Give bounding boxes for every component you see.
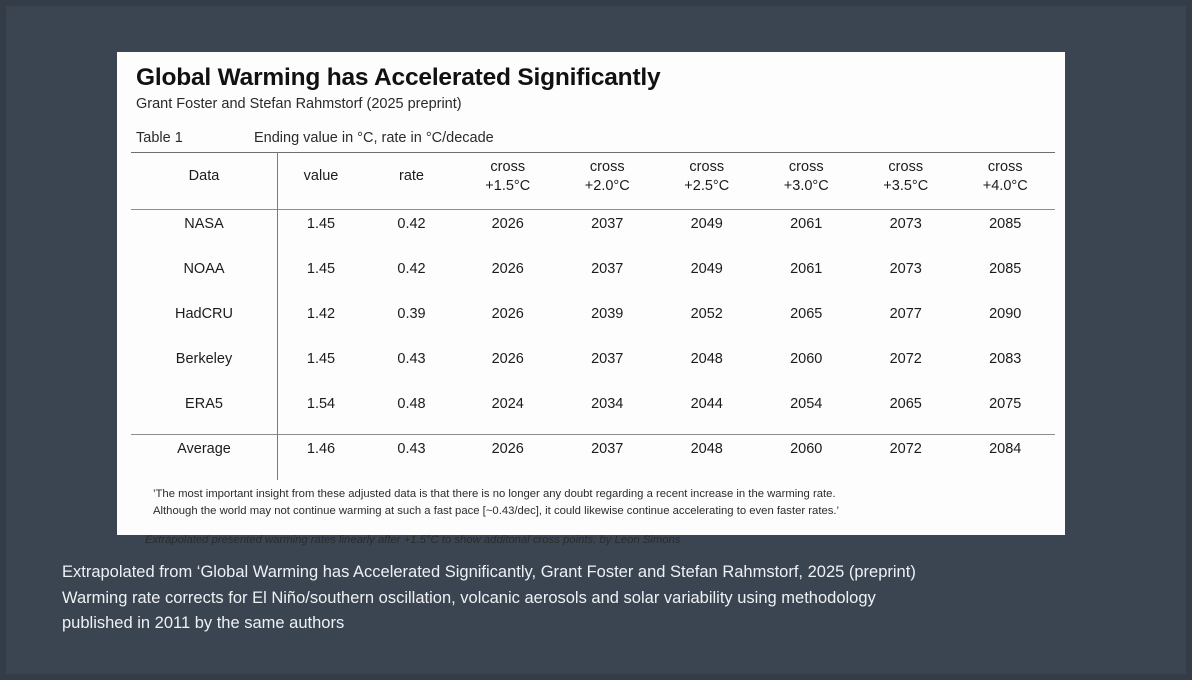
results-table: Data value rate cross +1.5°C cross +2.0°: [131, 152, 1055, 472]
cell-cross-3p5: 2065: [856, 382, 956, 427]
quote-line: Although the world may not continue warm…: [153, 503, 1048, 521]
table-row: Berkeley 1.45 0.43 2026 2037 2048 2060 2…: [131, 337, 1055, 382]
caption-line: Extrapolated from ‘Global Warming has Ac…: [62, 560, 1142, 586]
cell-cross-4p0: 2075: [956, 382, 1056, 427]
cell-cross-2p5: 2048: [657, 337, 757, 382]
cell-cross-2p0: 2037: [558, 247, 658, 292]
column-header-cross-2p0: cross +2.0°C: [558, 152, 658, 202]
table-units-label: Ending value in °C, rate in °C/decade: [254, 130, 494, 146]
cell-rate: 0.43: [365, 337, 458, 382]
cell-cross-4p0: 2085: [956, 247, 1056, 292]
cell-cross-3p5: 2073: [856, 247, 956, 292]
column-header-cross-3p0: cross +3.0°C: [757, 152, 857, 202]
cell-cross-1p5: 2026: [458, 247, 558, 292]
cell-dataset: NOAA: [131, 247, 277, 292]
table-number-label: Table 1: [136, 130, 254, 146]
cell-cross-1p5: 2024: [458, 382, 558, 427]
cell-cross-3p0: 2054: [757, 382, 857, 427]
cell-cross-2p0: 2034: [558, 382, 658, 427]
cell-dataset: HadCRU: [131, 292, 277, 337]
table-rule-body-end: [131, 434, 1055, 435]
cell-cross-1p5: 2026: [458, 292, 558, 337]
cell-rate: 0.39: [365, 292, 458, 337]
table-header-row: Data value rate cross +1.5°C cross +2.0°: [131, 152, 1055, 202]
page-title: Global Warming has Accelerated Significa…: [136, 64, 1048, 92]
table-row: NOAA 1.45 0.42 2026 2037 2049 2061 2073 …: [131, 247, 1055, 292]
table-header: Data value rate cross +1.5°C cross +2.0°: [131, 152, 1055, 202]
cell-cross-3p0: 2065: [757, 292, 857, 337]
cell-dataset: Berkeley: [131, 337, 277, 382]
cell-dataset: ERA5: [131, 382, 277, 427]
cell-rate: 0.42: [365, 247, 458, 292]
column-header-data: Data: [131, 152, 277, 202]
cell-cross-3p0: 2060: [757, 337, 857, 382]
table-footnote-attribution: Extrapolated presented warming rates lin…: [145, 534, 1048, 546]
page-subtitle: Grant Foster and Stefan Rahmstorf (2025 …: [136, 96, 1048, 113]
table-body: NASA 1.45 0.42 2026 2037 2049 2061 2073 …: [131, 202, 1055, 472]
cell-cross-1p5: 2026: [458, 337, 558, 382]
cell-cross-2p0: 2037: [558, 337, 658, 382]
table-rule-header: [131, 209, 1055, 210]
cell-cross-2p0: 2039: [558, 292, 658, 337]
cell-value: 1.45: [277, 247, 365, 292]
cell-value: 1.54: [277, 382, 365, 427]
table-card: Global Warming has Accelerated Significa…: [117, 52, 1065, 535]
table-row: ERA5 1.54 0.48 2024 2034 2044 2054 2065 …: [131, 382, 1055, 427]
column-header-value: value: [277, 152, 365, 202]
table-footnote-quote: ’The most important insight from these a…: [153, 486, 1048, 521]
caption-line: published in 2011 by the same authors: [62, 611, 1142, 637]
cell-value: 1.45: [277, 337, 365, 382]
slide-caption: Extrapolated from ‘Global Warming has Ac…: [62, 560, 1142, 637]
table-caption: Table 1 Ending value in °C, rate in °C/d…: [136, 130, 1048, 146]
cell-value: 1.42: [277, 292, 365, 337]
column-header-cross-2p5: cross +2.5°C: [657, 152, 757, 202]
table-wrapper: Data value rate cross +1.5°C cross +2.0°: [131, 152, 1048, 472]
quote-line: ’The most important insight from these a…: [153, 486, 1048, 504]
column-header-rate: rate: [365, 152, 458, 202]
cell-rate: 0.48: [365, 382, 458, 427]
column-header-cross-1p5: cross +1.5°C: [458, 152, 558, 202]
cell-cross-2p5: 2049: [657, 247, 757, 292]
cell-cross-4p0: 2090: [956, 292, 1056, 337]
cell-cross-3p0: 2061: [757, 247, 857, 292]
column-header-cross-4p0: cross +4.0°C: [956, 152, 1056, 202]
table-rule-top: [131, 152, 1055, 153]
cell-cross-3p5: 2072: [856, 337, 956, 382]
table-column-divider: [277, 152, 278, 480]
cell-cross-2p5: 2052: [657, 292, 757, 337]
cell-cross-4p0: 2083: [956, 337, 1056, 382]
table-row: HadCRU 1.42 0.39 2026 2039 2052 2065 207…: [131, 292, 1055, 337]
column-header-cross-3p5: cross +3.5°C: [856, 152, 956, 202]
cell-cross-2p5: 2044: [657, 382, 757, 427]
caption-line: Warming rate corrects for El Niño/southe…: [62, 586, 1142, 612]
cell-cross-3p5: 2077: [856, 292, 956, 337]
